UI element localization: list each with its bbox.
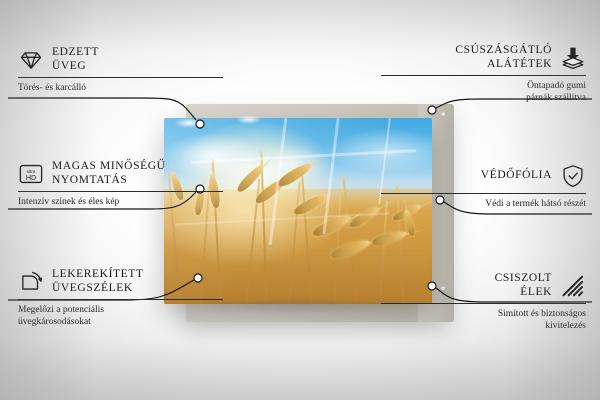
rounded-corner-arrow-icon	[18, 269, 44, 295]
highlight-sparkle	[236, 115, 262, 124]
callout-polished-edges: CSISZOLT ÉLEK Simított és biztonságos ki…	[381, 272, 586, 332]
product-infographic: EDZETT ÜVEG Törés- és karcálló ultra HD …	[0, 0, 600, 400]
svg-text:HD: HD	[26, 173, 36, 181]
callout-protective-film: VÉDŐFÓLIA Védi a termék hátsó részét	[381, 163, 586, 210]
callout-subtitle: Védi a termék hátsó részét	[381, 198, 586, 210]
callout-header: EDZETT ÜVEG	[18, 46, 223, 73]
callout-title: LEKEREKÍTETT ÜVEGSZÉLEK	[52, 268, 144, 295]
hatched-triangle-icon	[560, 273, 586, 299]
callout-divider	[381, 193, 586, 194]
callout-subtitle: Intenzív színek és éles kép	[18, 196, 223, 208]
callout-header: ultra HD MAGAS MINŐSÉGŰ NYOMTATÁS	[18, 160, 223, 187]
shield-check-icon	[560, 163, 586, 189]
callout-title: VÉDŐFÓLIA	[481, 169, 552, 183]
mounting-screw	[441, 112, 446, 117]
callout-divider	[381, 75, 586, 76]
callout-header: CSISZOLT ÉLEK	[381, 272, 586, 299]
callout-title: EDZETT ÜVEG	[52, 46, 99, 73]
callout-subtitle: Törés- és karcálló	[18, 82, 223, 94]
ultra-hd-badge-icon: ultra HD	[18, 161, 44, 187]
callout-anti-slip-pads: CSÚSZÁSGÁTLÓ ALÁTÉTEK Öntapadó gumi párn…	[381, 44, 586, 104]
callout-title: CSÚSZÁSGÁTLÓ ALÁTÉTEK	[455, 44, 552, 71]
callout-header: CSÚSZÁSGÁTLÓ ALÁTÉTEK	[381, 44, 586, 71]
highlight-sparkle	[174, 118, 204, 128]
callout-tempered-glass: EDZETT ÜVEG Törés- és karcálló	[18, 46, 223, 94]
callout-title: CSISZOLT ÉLEK	[495, 272, 552, 299]
arrow-into-layers-icon	[560, 45, 586, 71]
callout-divider	[381, 303, 586, 304]
diamond-icon	[18, 47, 44, 73]
callout-subtitle: Öntapadó gumi párnák szállítva	[381, 80, 586, 104]
callout-high-quality-print: ultra HD MAGAS MINŐSÉGŰ NYOMTATÁS Intenz…	[18, 160, 223, 208]
callout-subtitle: Simított és biztonságos kivitelezés	[381, 308, 586, 332]
callout-divider	[18, 77, 223, 78]
callout-title: MAGAS MINŐSÉGŰ NYOMTATÁS	[52, 160, 166, 187]
callout-subtitle: Megelőzi a potenciális üvegkárosodásokat	[18, 304, 223, 328]
callout-rounded-glass-edges: LEKEREKÍTETT ÜVEGSZÉLEK Megelőzi a poten…	[18, 268, 223, 328]
callout-divider	[18, 191, 223, 192]
callout-divider	[18, 299, 223, 300]
callout-header: VÉDŐFÓLIA	[381, 163, 586, 189]
callout-header: LEKEREKÍTETT ÜVEGSZÉLEK	[18, 268, 223, 295]
